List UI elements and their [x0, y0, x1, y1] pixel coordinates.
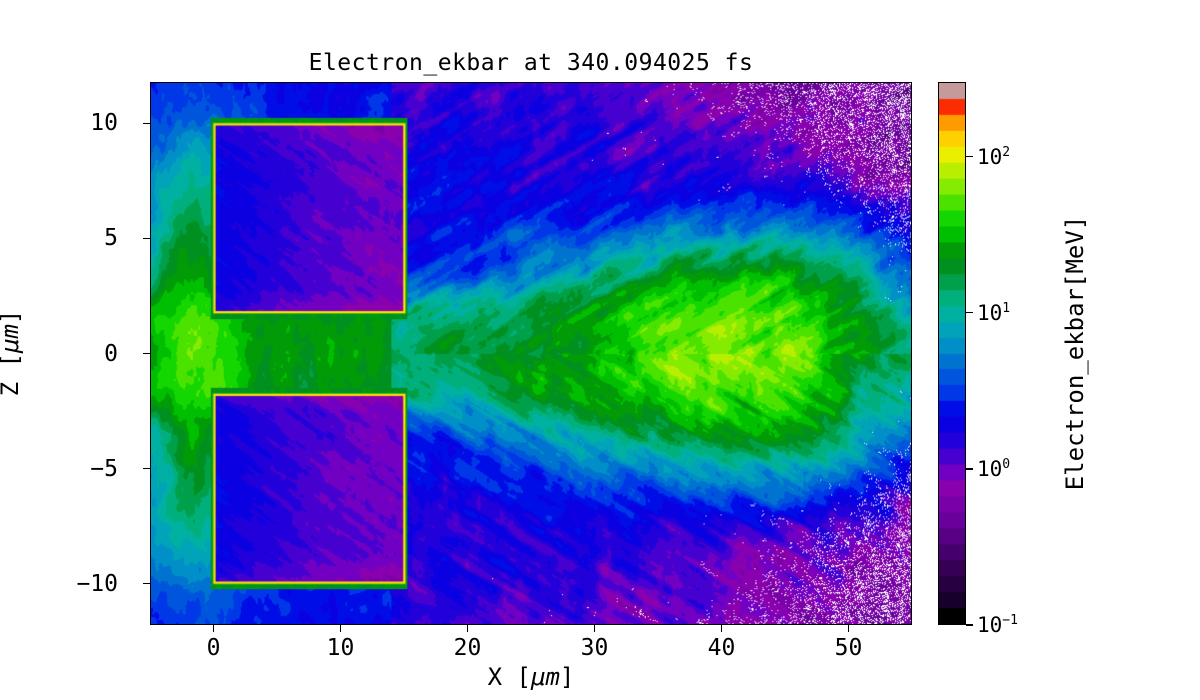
- x-tick-label-40: 40: [708, 635, 736, 661]
- colorbar-tick-label-10e0: 100: [977, 457, 1010, 481]
- x-tick-0: [213, 625, 215, 632]
- x-axis-label-text: X [: [488, 663, 531, 691]
- colorbar-label-close: ]: [1061, 216, 1089, 230]
- plot-title: Electron_ekbar at 340.094025 fs: [150, 50, 912, 76]
- x-axis-label-close: ]: [560, 663, 574, 691]
- y-axis-label-text: Z [: [0, 353, 24, 396]
- colorbar-tick-10e1: [966, 312, 973, 314]
- y-tick-label-−5: −5: [90, 456, 118, 482]
- colorbar-label-text: Electron_ekbar[: [1061, 274, 1089, 491]
- y-tick-label-−10: −10: [76, 571, 118, 597]
- colorbar-label: Electron_ekbar[MeV]: [1061, 216, 1089, 491]
- y-tick-0: [143, 353, 150, 355]
- colorbar[interactable]: [938, 82, 966, 625]
- figure-canvas: Electron_ekbar at 340.094025 fs 01020304…: [0, 0, 1200, 700]
- colorbar-tick-10e0: [966, 468, 973, 470]
- colorbar-gradient: [939, 83, 965, 624]
- x-axis-label: X [μm]: [150, 663, 912, 691]
- x-tick-label-0: 0: [207, 635, 221, 661]
- colorbar-tick-label-10e1: 101: [977, 301, 1010, 325]
- x-tick-50: [848, 625, 850, 632]
- y-tick-5: [143, 238, 150, 240]
- y-tick-label-10: 10: [90, 110, 118, 136]
- x-tick-label-10: 10: [327, 635, 355, 661]
- x-tick-label-30: 30: [581, 635, 609, 661]
- y-tick-−5: [143, 468, 150, 470]
- x-tick-40: [721, 625, 723, 632]
- x-tick-10: [340, 625, 342, 632]
- x-tick-label-50: 50: [835, 635, 863, 661]
- heatmap-axes[interactable]: [150, 82, 912, 625]
- colorbar-tick-label-10e2: 102: [977, 145, 1010, 169]
- x-tick-30: [594, 625, 596, 632]
- x-axis-label-unit: μm: [531, 663, 560, 691]
- y-axis-label-close: ]: [0, 310, 24, 324]
- y-tick-label-0: 0: [104, 341, 118, 367]
- x-tick-label-20: 20: [454, 635, 482, 661]
- y-axis-label-unit: μm: [0, 324, 24, 353]
- y-axis-label: Z [μm]: [0, 310, 24, 397]
- y-tick-−10: [143, 583, 150, 585]
- heatmap-image: [151, 83, 911, 624]
- y-tick-label-5: 5: [104, 225, 118, 251]
- colorbar-tick-10e−1: [966, 624, 973, 626]
- colorbar-tick-10e2: [966, 156, 973, 158]
- x-tick-20: [467, 625, 469, 632]
- colorbar-label-unit: MeV: [1061, 230, 1089, 273]
- colorbar-tick-label-10e−1: 10−1: [977, 613, 1018, 637]
- y-tick-10: [143, 123, 150, 125]
